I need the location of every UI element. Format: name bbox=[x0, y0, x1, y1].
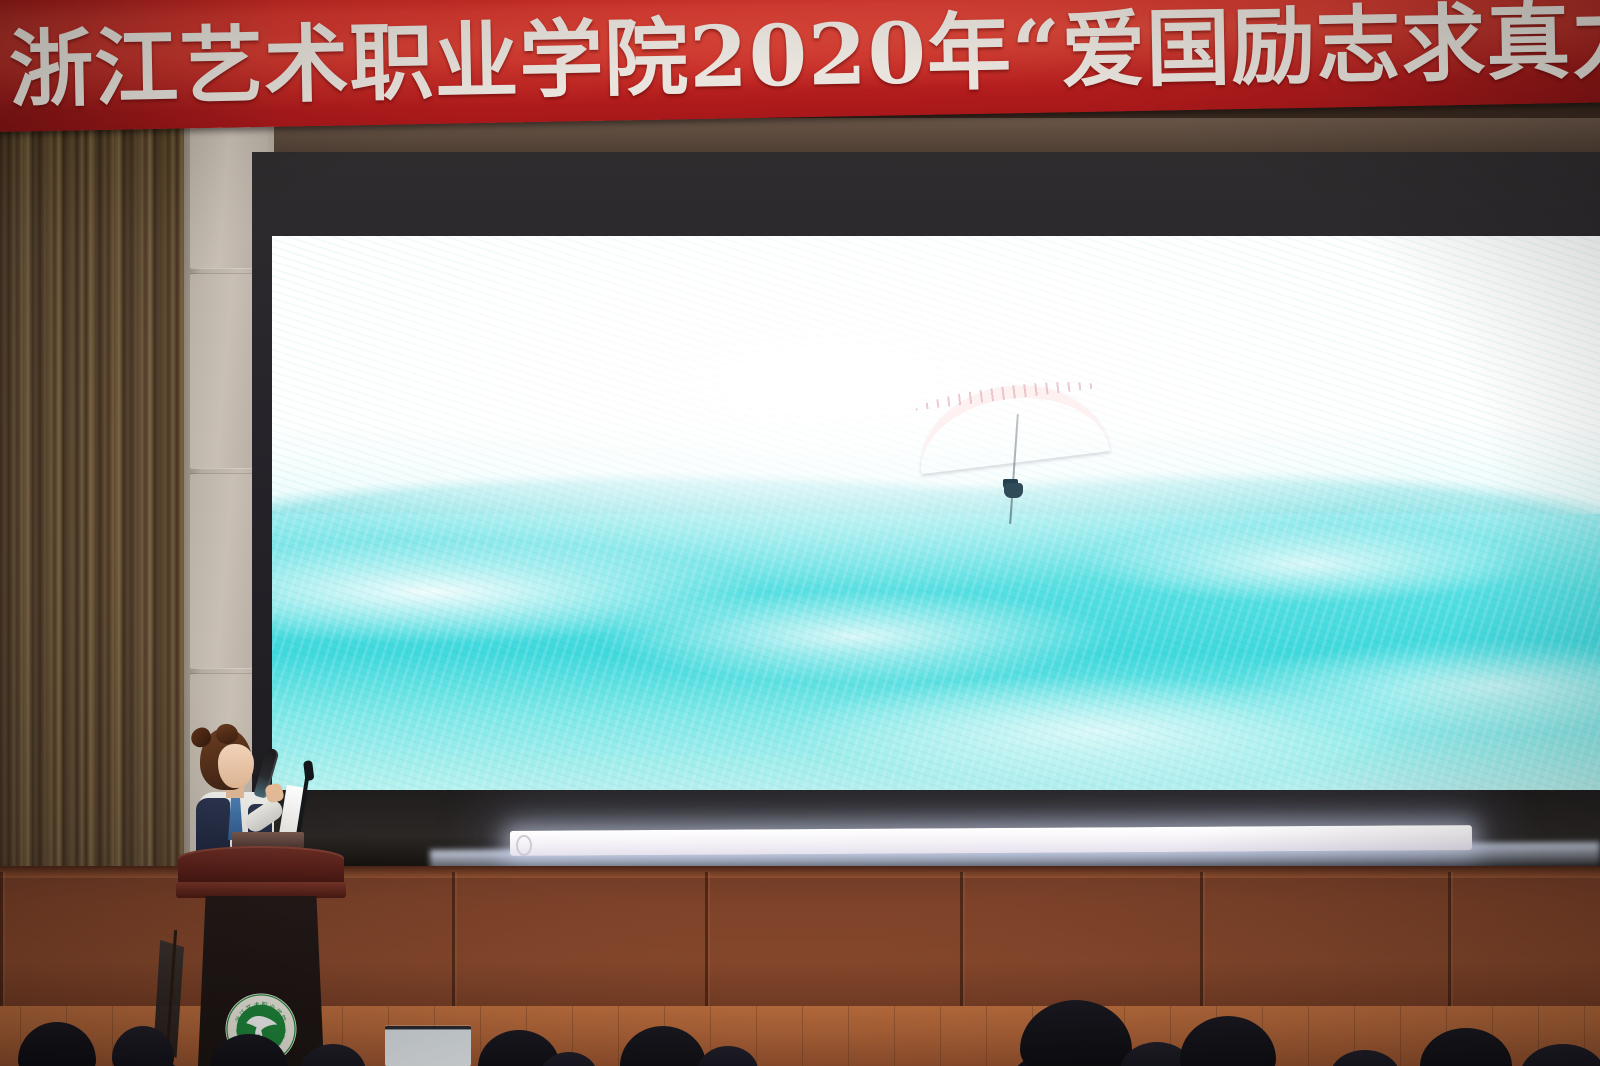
stage-panel-seam bbox=[0, 872, 3, 1006]
floor-plank bbox=[756, 1006, 757, 1066]
floor-plank bbox=[618, 1006, 619, 1066]
floor-plank bbox=[986, 1006, 987, 1066]
stage-panel-seam bbox=[1200, 872, 1203, 1006]
paraglider-pilot bbox=[1004, 483, 1023, 498]
projection-screen bbox=[272, 236, 1600, 792]
podium-lip bbox=[176, 882, 346, 898]
floor-plank bbox=[1308, 1006, 1309, 1066]
stage-panel-seam bbox=[960, 872, 963, 1006]
floor-plank bbox=[848, 1006, 849, 1066]
floor-plank bbox=[1400, 1006, 1401, 1066]
floor-plank bbox=[802, 1006, 803, 1066]
stage-panel-seam bbox=[1448, 872, 1451, 1006]
auditorium-photo: 浙江艺术职业学院 ZHEJIANG VOCATIONAL ACADEMY OF … bbox=[0, 0, 1600, 1066]
screen-haze bbox=[272, 236, 1600, 792]
speaker-face bbox=[218, 744, 254, 788]
stage-panel-seam bbox=[452, 872, 455, 1006]
floor-plank bbox=[940, 1006, 941, 1066]
audience-laptop bbox=[385, 1026, 471, 1066]
floor-plank bbox=[894, 1006, 895, 1066]
event-banner: 浙江艺术职业学院2020年“爱国励志求真力行”暑期社会实践 bbox=[0, 0, 1600, 132]
stage-panel-seam bbox=[705, 872, 708, 1006]
speaking-podium: 浙江艺术职业学院 ZHEJIANG VOCATIONAL ACADEMY OF … bbox=[176, 846, 346, 1066]
